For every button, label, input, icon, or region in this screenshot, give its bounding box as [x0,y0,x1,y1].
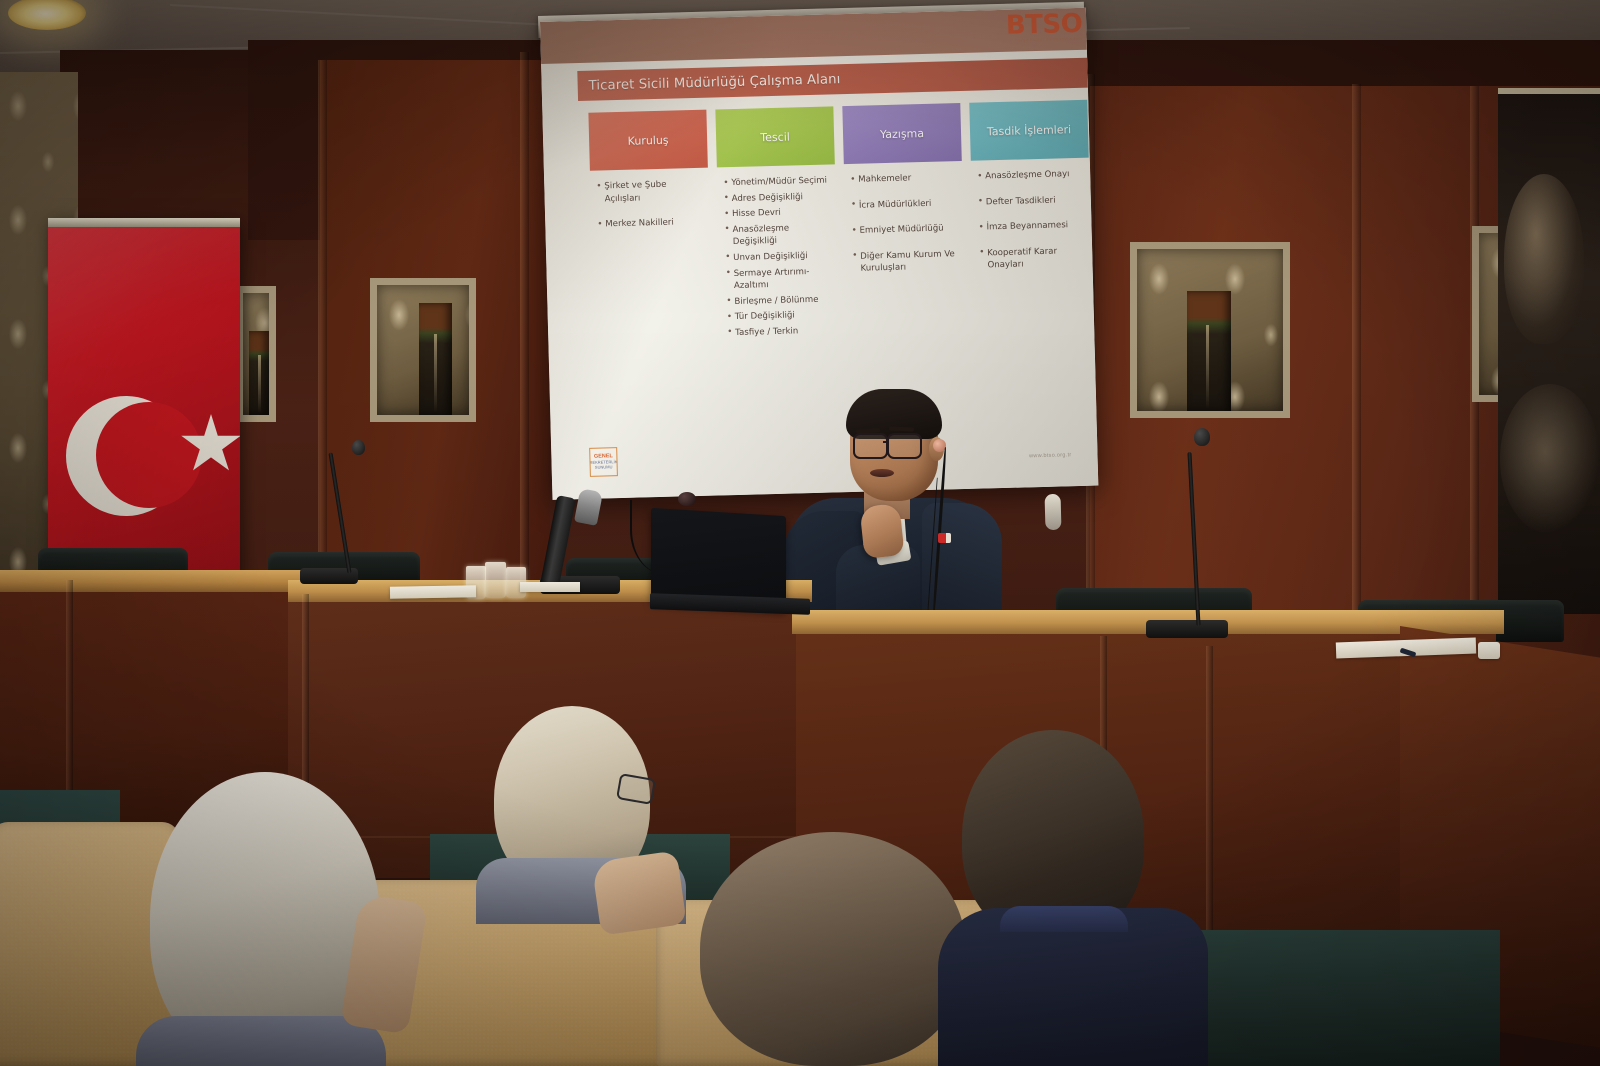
column-header: Yazışma [842,103,961,164]
mouth [870,469,894,477]
footer-logo-line-3: SUNUMU [595,464,613,469]
list-item: İmza Beyannamesi [978,219,1085,234]
slide-column-kurulus: Kuruluş Şirket ve Şube Açılışları Merkez… [588,110,715,449]
list-item: Unvan Değişikliği [725,249,832,264]
eyeglasses-lens-right [887,433,922,459]
list-item: Anasözleşme Değişikliği [724,221,832,249]
dais-seam [1206,646,1213,976]
dais-left-worktop [0,570,330,592]
water-glass-cluster [466,560,538,600]
vase-icon [1187,291,1231,411]
wall-niche-right [1130,242,1290,418]
conference-photo: BTSO bursa ticaret ve sanayi odası Ticar… [0,0,1600,1066]
list-item: Anasözleşme Onayı [977,168,1084,183]
wall-banner-right [1498,88,1600,614]
btso-wordmark: BTSO [1006,12,1083,38]
list-item: Tasfiye / Terkin [727,324,834,339]
banner-sheen [48,218,240,580]
small-object [1478,642,1500,659]
column-header: Tescil [715,106,834,167]
slide-footer-logo: GENEL SEKRETERLİK SUNUMU [589,447,618,477]
column-header: Kuruluş [588,110,707,171]
paper-sheet [520,582,580,592]
vase-icon [249,331,269,415]
list-item: Tür Değişikliği [727,309,834,324]
hand [859,503,904,559]
list-item: İcra Müdürlükleri [851,197,958,212]
turkish-flag-lapel-pin-icon [938,533,951,543]
column-body: Şirket ve Şube Açılışları Merkez Nakille… [590,168,715,449]
list-item: Merkez Nakilleri [597,216,704,231]
list-item: Hisse Devri [724,206,831,221]
presenter [790,385,1030,625]
column-header: Tasdik İşlemleri [969,100,1088,161]
paper-sheet [390,585,476,598]
list-item: Emniyet Müdürlüğü [851,222,958,237]
microphone-base-right [1146,620,1228,638]
vase-icon [419,303,452,415]
list-item: Defter Tasdikleri [978,193,1085,208]
turkish-flag-banner [48,218,240,580]
list-item: Şirket ve Şube Açılışları [596,178,704,206]
wall-niche-left [236,286,276,422]
list-item: Sermaye Artırımı-Azaltımı [725,265,833,293]
list-item: Yönetim/Müdür Seçimi [723,174,830,189]
eyeglasses-bridge [883,441,889,443]
slide-footer-url: www.btso.org.tr [1029,452,1072,459]
btso-tagline: bursa ticaret ve sanayi odası [1006,36,1082,43]
list-item: Adres Değişikliği [724,190,831,205]
list-item: Kooperatif Karar Onayları [979,245,1087,273]
microphone-head-right [1194,428,1210,446]
list-item: Mahkemeler [850,171,957,186]
screen-pull-weight [1045,494,1062,530]
btso-logo: BTSO bursa ticaret ve sanayi odası [1006,12,1083,43]
list-item: Diğer Kamu Kurum Ve Kuruluşları [852,248,960,276]
audience-member-2-hand [591,850,686,935]
eyeglasses-lens-left [853,433,888,459]
slide-title: Ticaret Sicili Müdürlüğü Çalışma Alanı [577,72,840,94]
audience-member-3-head [700,832,966,1066]
list-item: Birleşme / Bölünme [726,293,833,308]
audience-member-4-collar [1000,906,1128,932]
wall-niche-center [370,278,476,422]
water-glass [485,562,506,598]
microphone-head-left [352,440,365,455]
